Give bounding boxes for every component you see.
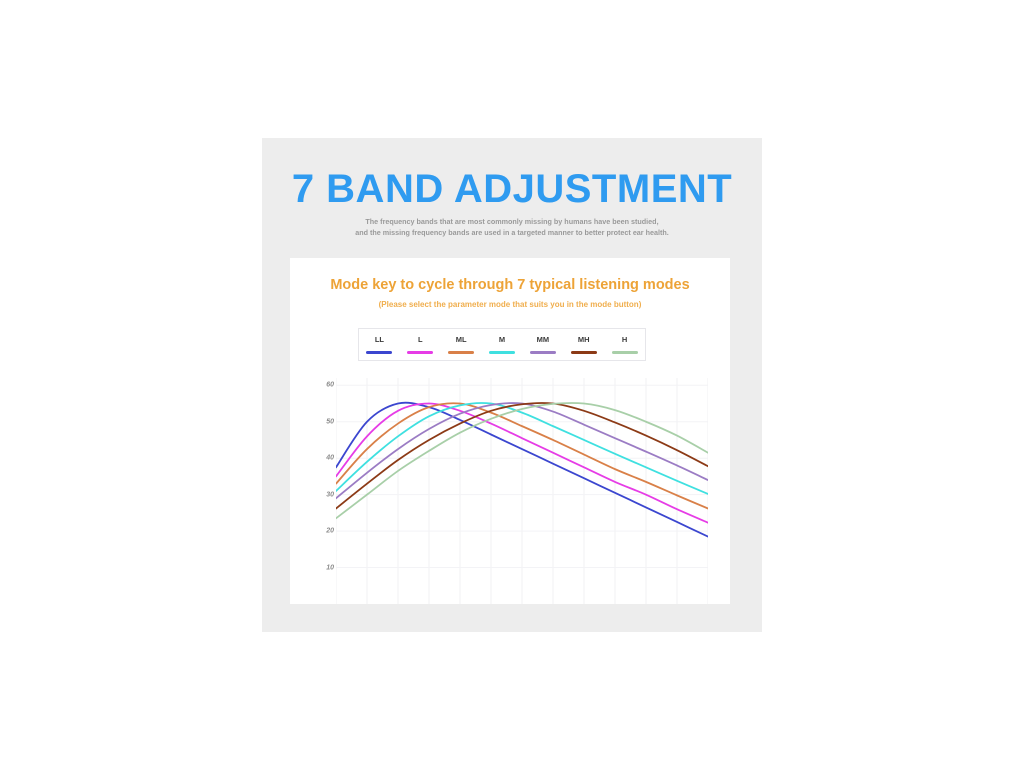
legend-swatch-cell-ll[interactable] [359,347,400,357]
chart-plot [336,378,708,604]
legend-color-swatch-ll [366,351,392,354]
page-subtitle-line-1: The frequency bands that are most common… [282,216,742,227]
page-root: 7 BAND ADJUSTMENT The frequency bands th… [0,0,1024,768]
chart-area: 102030405060 [308,378,712,604]
legend-label-mm[interactable]: MM [522,332,563,347]
page-subtitle: The frequency bands that are most common… [282,216,742,238]
legend-color-swatch-m [489,351,515,354]
legend-label-l[interactable]: L [400,332,441,347]
chart-card: Mode key to cycle through 7 typical list… [290,258,730,604]
legend-swatch-cell-ml[interactable] [441,347,482,357]
mode-legend: LLLMLMMMMHH [358,328,646,361]
legend-color-swatch-mm [530,351,556,354]
card-subtitle: (Please select the parameter mode that s… [290,300,730,309]
legend-label-mh[interactable]: MH [563,332,604,347]
y-tick-label-20: 20 [326,528,334,535]
page-title: 7 BAND ADJUSTMENT [262,168,762,210]
legend-label-row: LLLMLMMMMHH [359,332,645,347]
card-title: Mode key to cycle through 7 typical list… [290,277,730,293]
y-tick-label-10: 10 [326,564,334,571]
y-tick-label-50: 50 [326,418,334,425]
y-tick-label-30: 30 [326,491,334,498]
legend-label-ml[interactable]: ML [441,332,482,347]
legend-color-swatch-ml [448,351,474,354]
legend-swatch-row [359,347,645,357]
y-tick-label-60: 60 [326,382,334,389]
legend-swatch-cell-mh[interactable] [563,347,604,357]
page-subtitle-line-2: and the missing frequency bands are used… [282,227,742,238]
legend-label-m[interactable]: M [482,332,523,347]
legend-color-swatch-mh [571,351,597,354]
legend-swatch-cell-h[interactable] [604,347,645,357]
y-axis-labels: 102030405060 [308,378,334,604]
legend-label-ll[interactable]: LL [359,332,400,347]
legend-swatch-cell-l[interactable] [400,347,441,357]
legend-label-h[interactable]: H [604,332,645,347]
legend-color-swatch-l [407,351,433,354]
legend-swatch-cell-mm[interactable] [522,347,563,357]
legend-swatch-cell-m[interactable] [482,347,523,357]
y-tick-label-40: 40 [326,455,334,462]
legend-color-swatch-h [612,351,638,354]
